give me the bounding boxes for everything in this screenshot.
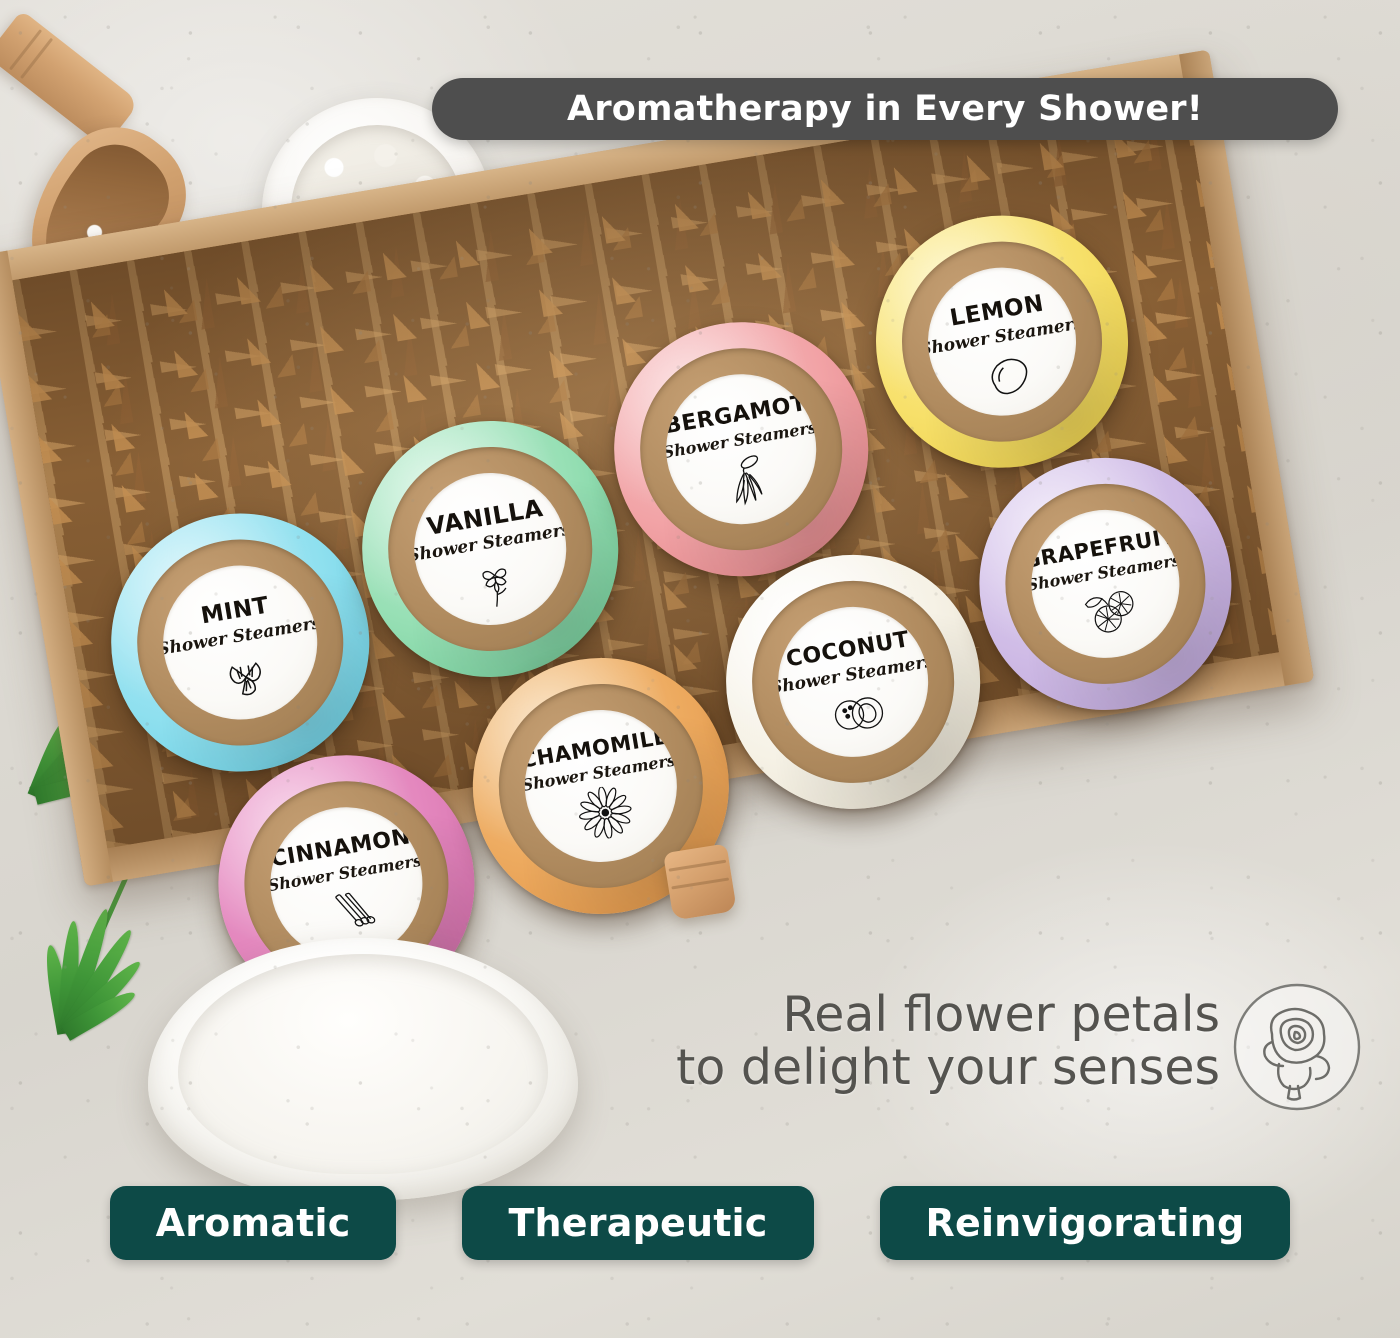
tagline-line-2: to delight your senses <box>560 1041 1220 1094</box>
header-banner-text: Aromatherapy in Every Shower! <box>567 89 1203 129</box>
citrus-slices-icon <box>1077 582 1142 639</box>
vanilla-flower-icon <box>467 554 525 614</box>
tagline-block: Real flower petals to delight your sense… <box>560 988 1220 1095</box>
cinnamon-sticks-icon <box>321 885 382 939</box>
kraft-gift-box: MINT Shower Steamers VANILLA Shower Stea <box>0 50 1314 887</box>
badge-label: Aromatic <box>156 1201 351 1245</box>
badge-therapeutic[interactable]: Therapeutic <box>462 1186 813 1260</box>
rose-icon <box>1232 982 1362 1112</box>
tagline-line-1: Real flower petals <box>560 988 1220 1041</box>
feature-badge-row: Aromatic Therapeutic Reinvigorating <box>0 1186 1400 1260</box>
badge-aromatic[interactable]: Aromatic <box>110 1186 397 1260</box>
badge-reinvigorating[interactable]: Reinvigorating <box>880 1186 1291 1260</box>
daisy-flower-icon <box>573 782 637 843</box>
lemon-icon <box>977 349 1038 403</box>
herb-bundle-icon <box>718 450 774 511</box>
wooden-scoop-under-box <box>663 843 737 920</box>
badge-label: Reinvigorating <box>926 1201 1245 1245</box>
badge-label: Therapeutic <box>508 1201 767 1245</box>
mint-leaf-icon <box>216 649 275 705</box>
white-ceramic-bowl <box>148 938 578 1200</box>
product-photo-scene: MINT Shower Steamers VANILLA Shower Stea <box>0 0 1400 1338</box>
coconut-icon <box>827 687 889 740</box>
header-banner: Aromatherapy in Every Shower! <box>432 78 1338 140</box>
